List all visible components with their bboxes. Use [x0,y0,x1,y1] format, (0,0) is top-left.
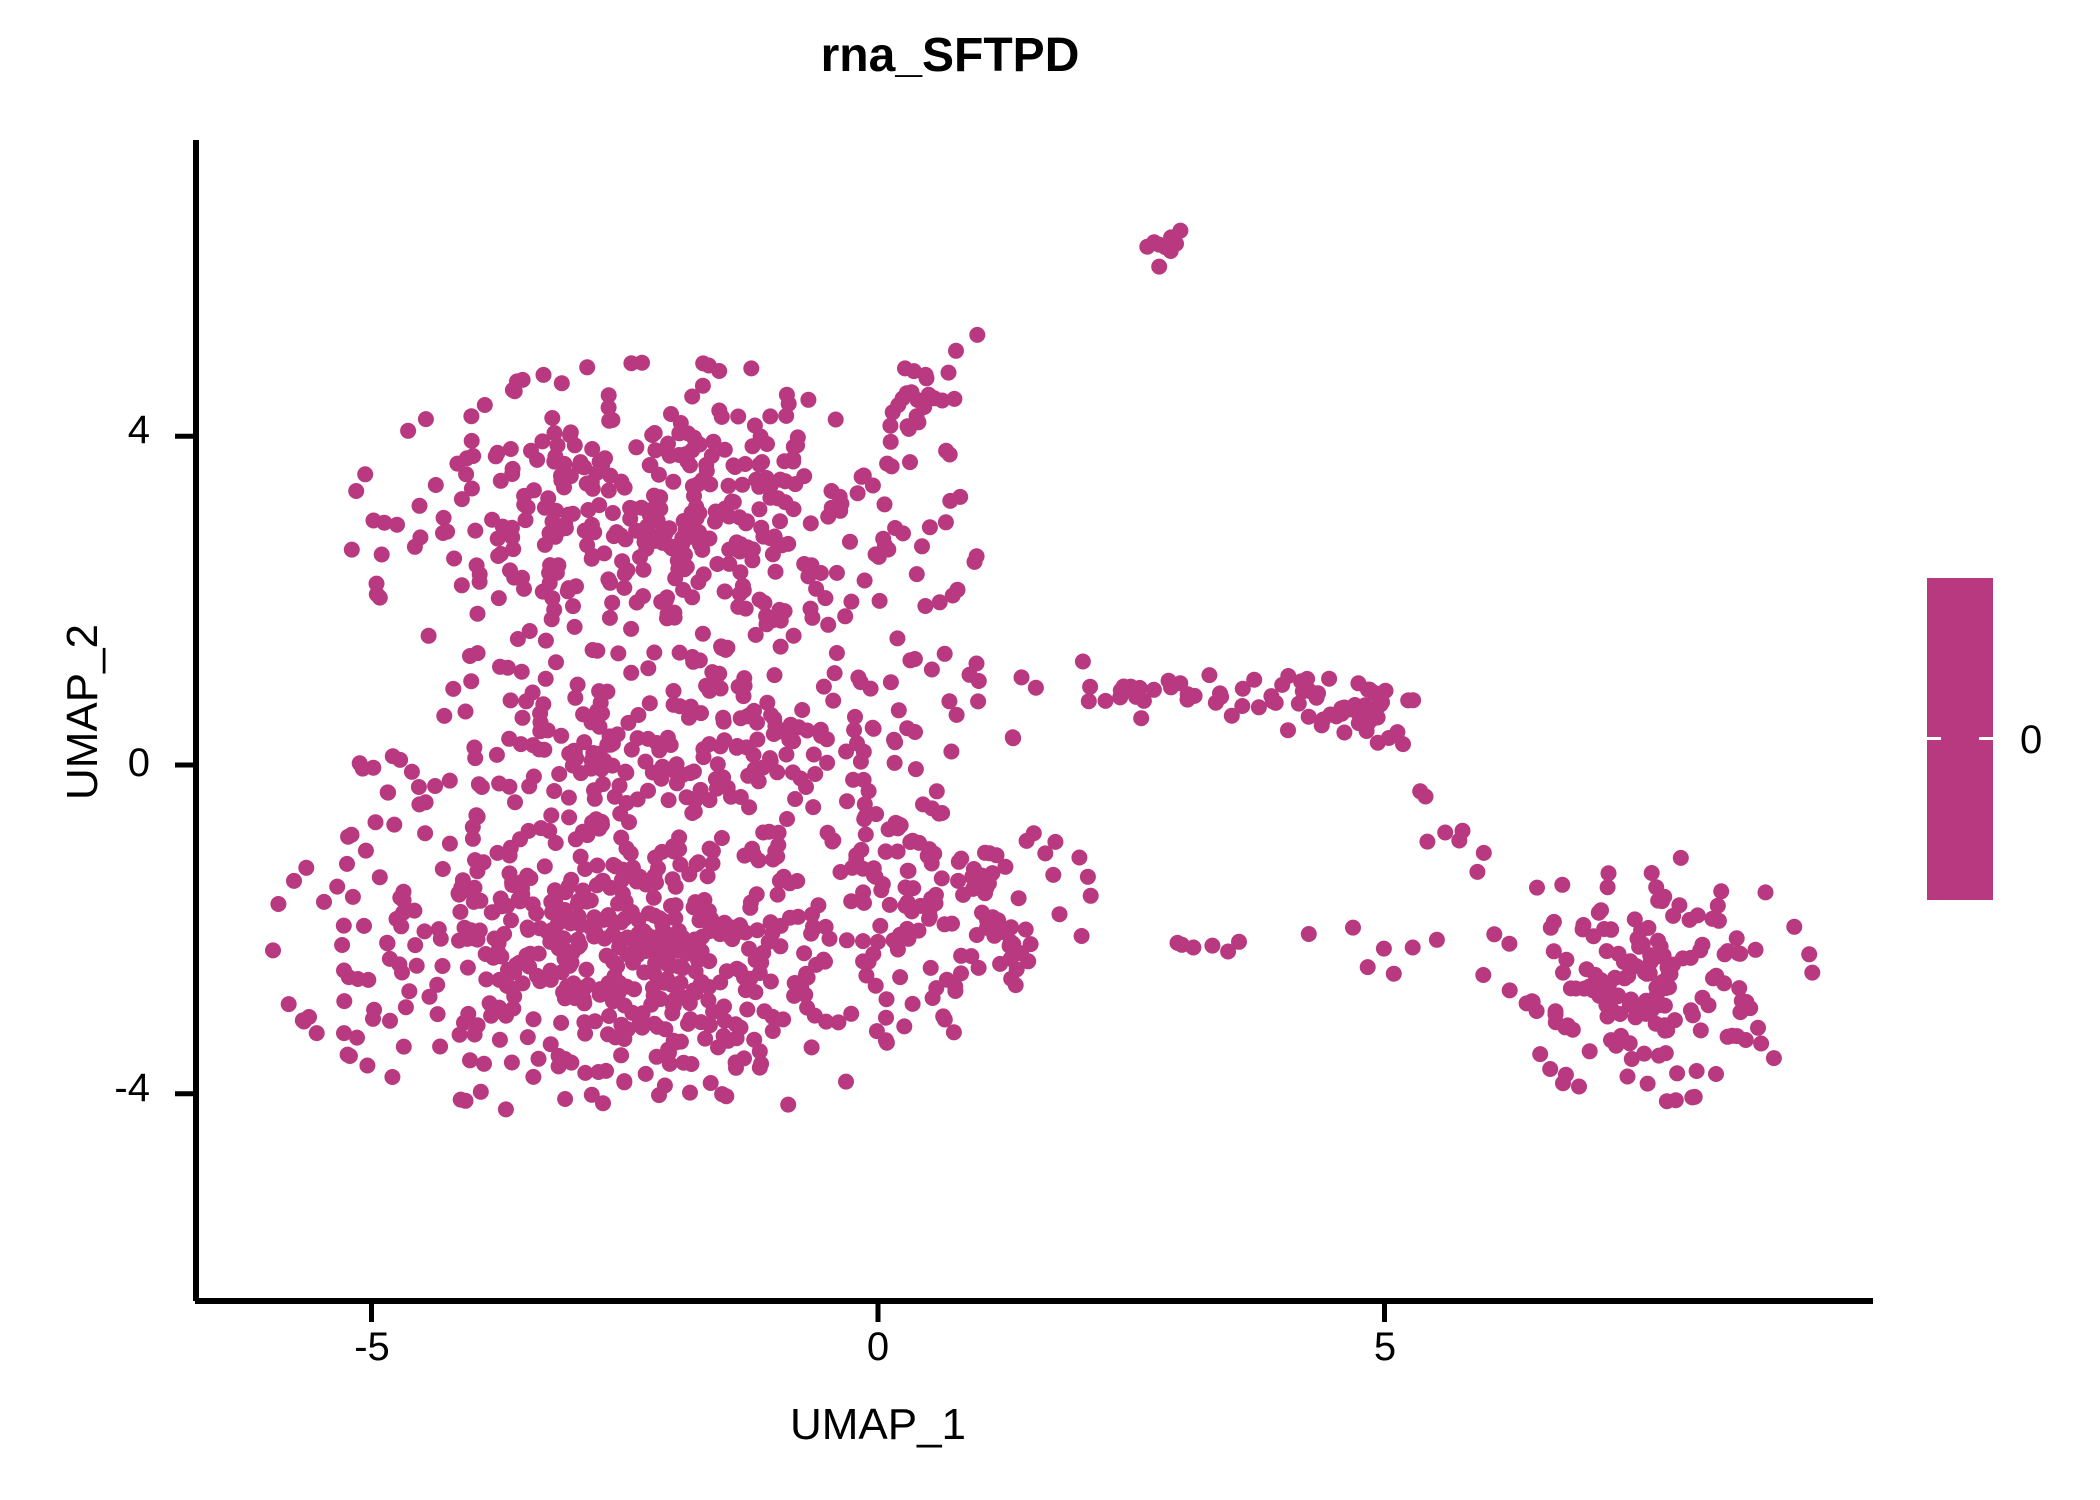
data-point [770,490,786,506]
data-point [763,974,779,990]
data-point [533,820,549,836]
data-point [690,574,706,590]
data-point [1018,922,1034,938]
data-point [672,857,688,873]
data-point [1690,907,1706,923]
data-point [688,436,704,452]
data-point [620,715,636,731]
data-point [892,927,908,943]
data-point [762,408,778,424]
data-point [605,505,621,521]
data-point [816,679,832,695]
colorbar-tick-right [1979,737,1993,740]
data-point [772,513,788,529]
data-point [391,956,407,972]
data-point [775,1011,791,1027]
data-point [589,703,605,719]
data-point [618,531,634,547]
data-point [716,999,732,1015]
data-point [718,1088,734,1104]
data-point [551,1058,567,1074]
data-point [1542,1061,1558,1077]
data-point [887,734,903,750]
data-point [767,718,783,734]
x-tick-label-2: 5 [1325,1325,1445,1370]
data-point [578,962,594,978]
data-point [644,427,660,443]
data-point [923,960,939,976]
data-point [702,792,718,808]
data-point [428,477,444,493]
data-point [576,734,592,750]
data-point [407,539,423,555]
data-point [702,1017,718,1033]
data-point [666,683,682,699]
data-point [417,923,433,939]
data-point [690,854,706,870]
data-point [829,645,845,661]
data-point [679,559,695,575]
data-point [772,472,788,488]
data-point [951,854,967,870]
data-point [898,898,914,914]
data-point [491,776,507,792]
data-point [711,363,727,379]
data-point [1081,693,1097,709]
data-point [401,983,417,999]
data-point [717,584,733,600]
data-point [1405,940,1421,956]
data-point [594,873,610,889]
data-point [614,872,630,888]
data-point [1291,696,1307,712]
data-point [579,827,595,843]
data-point [1455,823,1471,839]
data-point [520,1029,536,1045]
data-point [1555,965,1571,981]
data-point [503,692,519,708]
data-point [380,935,396,951]
data-point [1599,943,1615,959]
data-point [768,564,784,580]
data-point [477,397,493,413]
data-point [1003,951,1019,967]
data-point [663,898,679,914]
data-point [418,411,434,427]
data-point [1742,1000,1758,1016]
data-point [683,1056,699,1072]
data-point [948,343,964,359]
data-point [855,861,871,877]
data-point [1486,926,1502,942]
data-point [523,443,539,459]
data-point [1201,667,1217,683]
data-point [1071,850,1087,866]
data-point [1648,879,1664,895]
data-point [786,628,802,644]
data-point [575,706,591,722]
data-point [500,660,516,676]
data-point [900,418,916,434]
data-point [281,996,297,1012]
data-points-layer [265,223,1820,1118]
data-point [1684,1089,1700,1105]
data-point [623,355,639,371]
data-point [708,504,724,520]
data-point [369,576,385,592]
data-point [654,759,670,775]
data-point [1133,710,1149,726]
data-point [556,930,572,946]
data-point [684,389,700,405]
data-point [617,480,633,496]
data-point [950,873,966,889]
data-point [1011,890,1027,906]
data-point [720,1033,736,1049]
data-point [1668,1092,1684,1108]
data-point [717,915,733,931]
data-point [929,783,945,799]
data-point [493,949,509,965]
data-point [562,427,578,443]
data-point [857,573,873,589]
data-point [563,468,579,484]
data-point [659,589,675,605]
data-point [1268,695,1284,711]
data-point [348,483,364,499]
data-point [512,831,528,847]
data-point [660,606,676,622]
data-point [1251,699,1267,715]
data-point [1627,911,1643,927]
data-point [714,830,730,846]
data-point [1321,671,1337,687]
data-point [813,565,829,581]
data-point [1014,669,1030,685]
data-point [804,610,820,626]
data-point [813,722,829,738]
data-point [1596,990,1612,1006]
data-point [386,817,402,833]
data-point [612,778,628,794]
data-point [856,772,872,788]
data-point [358,843,374,859]
data-point [665,474,681,490]
data-point [918,367,934,383]
data-point [462,1052,478,1068]
data-point [1080,869,1096,885]
data-point [619,562,635,578]
data-point [824,483,840,499]
data-point [417,825,433,841]
data-point [1336,725,1352,741]
data-point [657,441,673,457]
data-point [799,1000,815,1016]
data-point [540,490,556,506]
data-point [955,887,971,903]
data-point [698,457,714,473]
data-point [1098,693,1114,709]
data-point [1637,965,1653,981]
data-point [640,660,656,676]
data-point [1576,981,1592,997]
data-point [669,775,685,791]
data-point [982,845,998,861]
data-point [586,929,602,945]
data-point [883,434,899,450]
data-point [376,515,392,531]
data-point [732,564,748,580]
data-point [946,1024,962,1040]
data-point [839,793,855,809]
data-point [920,848,936,864]
data-point [456,1015,472,1031]
data-point [632,1013,648,1029]
data-point [472,574,488,590]
data-point [661,520,677,536]
y-tick-label-2: -4 [30,1066,150,1111]
data-point [688,964,704,980]
data-point [503,912,519,928]
data-point [553,1015,569,1031]
data-point [794,702,810,718]
data-point [1620,1069,1636,1085]
data-point [431,921,447,937]
data-point [570,939,586,955]
data-point [504,1055,520,1071]
data-point [747,761,763,777]
data-point [1532,1046,1548,1062]
data-point [728,1016,744,1032]
data-point [971,673,987,689]
data-point [1600,879,1616,895]
data-point [642,457,658,473]
data-point [616,1031,632,1047]
data-point [833,864,849,880]
data-point [1648,980,1664,996]
data-point [739,513,755,529]
data-point [709,556,725,572]
data-point [896,1018,912,1034]
data-point [368,814,384,830]
data-point [435,861,451,877]
data-point [714,409,730,425]
data-point [1708,1066,1724,1082]
data-point [759,436,775,452]
data-point [780,1097,796,1113]
data-point [1213,689,1229,705]
data-point [1224,708,1240,724]
data-point [592,981,608,997]
data-point [476,1056,492,1072]
data-point [512,893,528,909]
data-point [454,577,470,593]
data-point [599,684,615,700]
data-point [779,811,795,827]
data-point [446,551,462,567]
data-point [336,1025,352,1041]
data-point [855,933,871,949]
data-point [1608,1038,1624,1054]
data-point [1650,933,1666,949]
colorbar-tick-left [1927,737,1941,740]
data-point [1543,920,1559,936]
data-point [435,958,451,974]
data-point [436,708,452,724]
data-point [902,834,918,850]
data-point [803,926,819,942]
data-point [585,642,601,658]
data-point [1748,942,1764,958]
data-point [922,902,938,918]
data-point [928,980,944,996]
data-point [969,927,985,943]
data-point [1350,705,1366,721]
data-point [1704,911,1720,927]
x-tick-label-0: -5 [312,1325,432,1370]
data-point [458,704,474,720]
data-point [554,375,570,391]
data-point [471,776,487,792]
data-point [1386,966,1402,982]
data-point [805,799,821,815]
data-point [1631,939,1647,955]
data-point [1231,934,1247,950]
data-point [459,450,475,466]
data-point [357,466,373,482]
data-point [1476,845,1492,861]
data-point [541,565,557,581]
data-point [1753,1036,1769,1052]
data-point [785,733,801,749]
data-point [879,991,895,1007]
data-point [518,512,534,528]
data-point [1185,940,1201,956]
data-point [1345,920,1361,936]
data-point [1658,1045,1674,1061]
colorbar-legend[interactable] [1927,578,1993,900]
data-point [803,515,819,531]
data-point [684,649,700,665]
data-point [730,409,746,425]
data-point [365,1011,381,1027]
data-point [853,674,869,690]
data-point [594,457,610,473]
data-point [472,893,488,909]
data-point [1502,982,1518,998]
data-point [470,1017,486,1033]
data-point [430,1006,446,1022]
data-point [827,665,843,681]
data-point [602,610,618,626]
data-point [1758,884,1774,900]
data-point [1720,1029,1736,1045]
data-point [596,753,612,769]
data-point [616,1074,632,1090]
data-point [785,454,801,470]
data-point [1650,893,1666,909]
data-point [721,478,737,494]
data-point [404,764,420,780]
data-point [531,1051,547,1067]
data-point [548,835,564,851]
data-point [942,447,958,463]
data-point [1381,730,1397,746]
data-point [400,423,416,439]
data-point [891,702,907,718]
data-point [817,590,833,606]
data-point [1469,864,1485,880]
data-point [619,795,635,811]
data-point [1028,680,1044,696]
data-point [1376,941,1392,957]
data-point [466,740,482,756]
data-point [647,850,663,866]
data-point [837,608,853,624]
data-point [578,979,594,995]
data-point [1364,711,1380,727]
data-point [770,887,786,903]
data-point [1729,930,1745,946]
data-point [825,832,841,848]
data-point [878,843,894,859]
data-point [753,520,769,536]
data-point [691,505,707,521]
data-point [870,934,886,950]
data-point [739,1002,755,1018]
data-point [491,590,507,606]
data-point [705,843,721,859]
data-point [668,1035,684,1051]
data-point [757,1003,773,1019]
data-point [563,872,579,888]
data-point [505,541,521,557]
data-point [693,705,709,721]
data-point [817,954,833,970]
data-point [842,534,858,550]
data-point [384,1069,400,1085]
data-point [694,908,710,924]
y-axis-title: UMAP_2 [58,462,108,962]
data-point [613,1047,629,1063]
data-point [483,1008,499,1024]
data-point [770,837,786,853]
data-point [752,1043,768,1059]
data-point [652,928,668,944]
data-point [825,693,841,709]
data-point [1587,967,1603,983]
data-point [1003,919,1019,935]
colorbar-tick-label-0: 0 [2020,718,2042,763]
data-point [635,522,651,538]
data-point [850,485,866,501]
data-point [1607,970,1623,986]
data-point [504,466,520,482]
data-point [515,710,531,726]
data-point [669,756,685,772]
data-point [435,525,451,541]
data-point [496,926,512,942]
data-point [877,537,893,553]
umap-feature-plot: rna_SFTPD UMAP_1 UMAP_2 -5 0 5 4 0 -4 0 [0,0,2100,1500]
data-point [468,807,484,823]
data-point [726,494,742,510]
data-point [588,811,604,827]
data-point [1689,1063,1705,1079]
data-point [824,500,840,516]
data-point [393,918,409,934]
data-point [838,1074,854,1090]
